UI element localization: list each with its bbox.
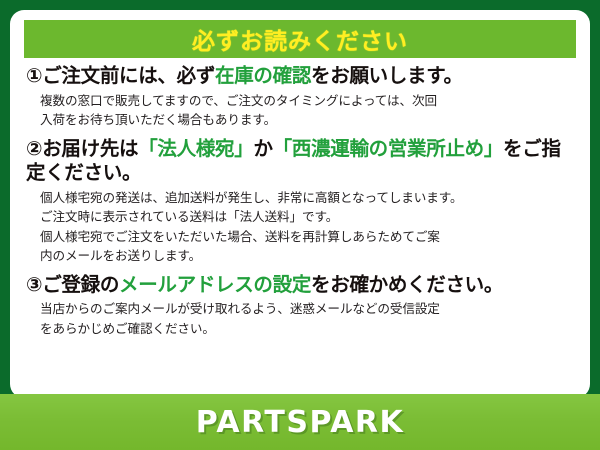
notice-banner: 必ずお読みください ①ご注文前には、必ず在庫の確認をお願いします。 複数の窓口で… [0,0,600,450]
notice-item-1-heading: ①ご注文前には、必ず在庫の確認をお願いします。 [26,64,574,89]
notice-title-bar: 必ずお読みください [24,20,576,58]
notice-item-3-body-line-1: 当店からのご案内メールが受け取れるよう、迷惑メールなどの受信設定 [40,299,574,319]
notice-item-1-body-line-2: 入荷をお待ち頂いただく場合もあります。 [40,110,574,130]
notice-item-1-heading-pre: ご注文前には、必ず [42,64,215,87]
notice-items: ①ご注文前には、必ず在庫の確認をお願いします。 複数の窓口で販売してますので、ご… [22,64,578,338]
notice-item-3-heading-pre: ご登録の [42,273,119,296]
notice-item-3-heading-post: をお確かめください。 [311,273,503,296]
notice-item-2-heading-mid: か [253,137,272,160]
notice-item-2: ②お届け先は「法人様宛」か「西濃運輸の営業所止め」をご指定ください。 個人様宅宛… [26,137,574,266]
notice-item-1-body-line-1: 複数の窓口で販売してますので、ご注文のタイミングによっては、次回 [40,91,574,111]
notice-item-3-body: 当店からのご案内メールが受け取れるよう、迷惑メールなどの受信設定 をあらかじめご… [40,299,574,338]
notice-item-3-number: ③ [26,273,42,296]
notice-item-1-heading-highlight: 在庫の確認 [215,64,311,87]
notice-item-2-heading-highlight: 「法人様宛」 [138,137,253,160]
page-title: 必ずお読みください [192,22,408,56]
notice-item-3-heading: ③ご登録のメールアドレスの設定をお確かめください。 [26,273,574,298]
notice-item-2-heading-pre: お届け先は [42,137,138,160]
notice-item-2-body-line-1: 個人様宅宛の発送は、追加送料が発生し、非常に高額となってしまいます。 [40,188,574,208]
notice-item-2-body-line-4: 内のメールをお送りします。 [40,246,574,266]
notice-item-1-heading-post: をお願いします。 [311,64,463,87]
notice-item-2-heading: ②お届け先は「法人様宛」か「西濃運輸の営業所止め」をご指定ください。 [26,137,574,186]
notice-item-3: ③ご登録のメールアドレスの設定をお確かめください。 当店からのご案内メールが受け… [26,273,574,339]
notice-item-1: ①ご注文前には、必ず在庫の確認をお願いします。 複数の窓口で販売してますので、ご… [26,64,574,130]
brand-footer: PARTSPARK [0,394,600,450]
notice-item-3-heading-highlight: メールアドレスの設定 [119,273,311,296]
notice-item-2-number: ② [26,137,42,160]
notice-item-3-body-line-2: をあらかじめご確認ください。 [40,319,574,339]
notice-item-2-body: 個人様宅宛の発送は、追加送料が発生し、非常に高額となってしまいます。 ご注文時に… [40,188,574,266]
notice-item-1-number: ① [26,64,42,87]
notice-item-2-body-line-2: ご注文時に表示されている送料は「法人送料」です。 [40,207,574,227]
notice-item-2-heading-highlight-2: 「西濃運輸の営業所止め」 [273,137,503,160]
notice-item-2-body-line-3: 個人様宅宛でご注文をいただいた場合、送料を再計算しあらためてご案 [40,227,574,247]
notice-panel: 必ずお読みください ①ご注文前には、必ず在庫の確認をお願いします。 複数の窓口で… [10,10,590,398]
brand-logo-text: PARTSPARK [196,405,405,440]
notice-item-1-body: 複数の窓口で販売してますので、ご注文のタイミングによっては、次回 入荷をお待ち頂… [40,91,574,130]
